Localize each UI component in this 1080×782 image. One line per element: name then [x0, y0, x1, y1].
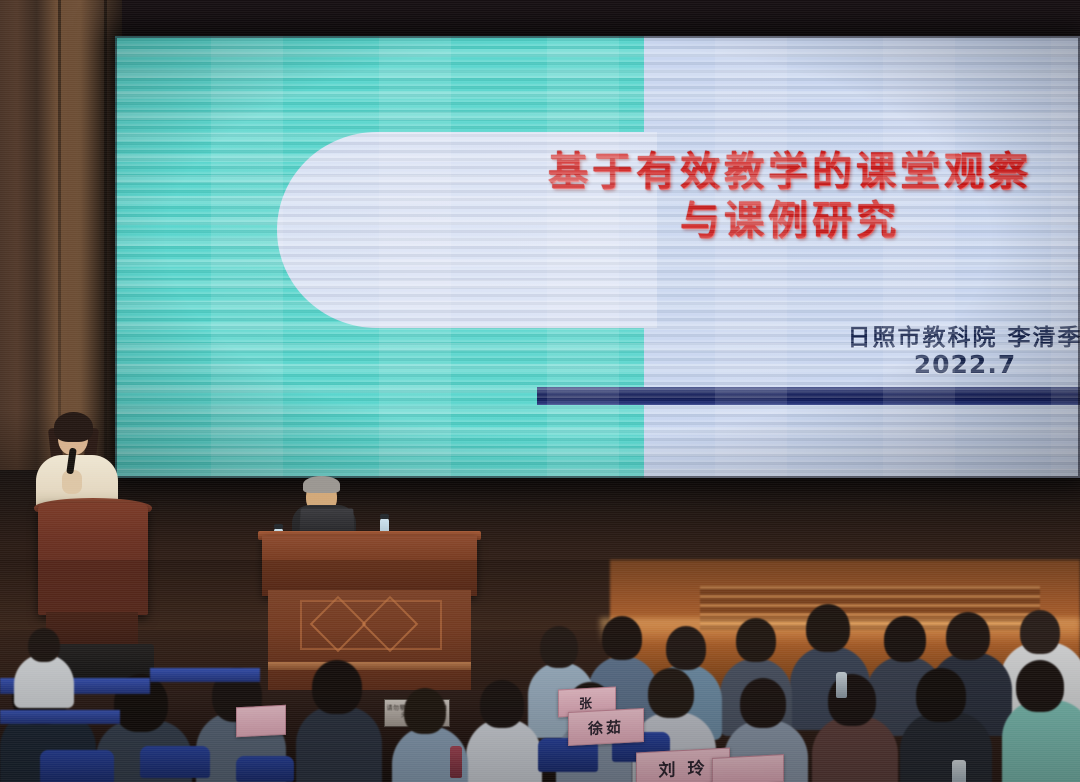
namecard-text: 刘 玲 — [659, 753, 708, 781]
audience-member — [540, 626, 578, 668]
audience-member — [736, 618, 776, 662]
audience-member — [312, 660, 362, 714]
audience-member — [404, 688, 446, 734]
chair — [140, 746, 210, 778]
audience-member — [666, 626, 706, 670]
namecard: 徐茹 — [568, 708, 644, 746]
slide-lavender-block — [644, 36, 1080, 478]
bottle-cap — [380, 514, 389, 519]
bottle-cap — [274, 524, 283, 529]
slide-title: 基于有效教学的课堂观察 与课例研究 — [445, 148, 1080, 246]
audience-member — [1020, 610, 1060, 654]
slide-author: 日照市教科院 李清季 — [755, 318, 1080, 352]
audience-member — [806, 604, 850, 652]
audience-member — [296, 706, 382, 782]
tumbler — [450, 746, 462, 778]
screenshot-root: 基于有效教学的课堂观察 与课例研究 日照市教科院 李清季 2022.7 请勿攀爬… — [0, 0, 1080, 782]
host-hair — [303, 476, 340, 493]
chair — [236, 756, 294, 782]
slide-navy-bar — [537, 387, 1080, 405]
audience-member — [740, 678, 786, 728]
namecard-text: 张 — [579, 692, 595, 712]
namecard — [236, 705, 286, 738]
audience-member — [480, 680, 524, 728]
chair — [40, 750, 114, 782]
audience-member — [28, 628, 60, 662]
slide-date: 2022.7 — [755, 350, 1080, 379]
audience-member — [884, 616, 926, 662]
desk — [0, 710, 120, 724]
audience-member — [602, 616, 642, 660]
namecard-text: 徐茹 — [588, 716, 624, 739]
audience-member — [900, 712, 992, 782]
audience-member — [1016, 660, 1064, 712]
audience-member — [946, 612, 990, 660]
audience-member — [1002, 700, 1080, 782]
water-bottle — [836, 672, 847, 698]
water-bottle — [952, 760, 966, 782]
audience-area: 张 徐茹 刘 玲 — [0, 560, 1080, 782]
projection-screen: 基于有效教学的课堂观察 与课例研究 日照市教科院 李清季 2022.7 — [115, 36, 1080, 478]
audience-member — [916, 668, 966, 722]
audience-member — [14, 654, 74, 708]
presenter-hair — [54, 412, 93, 442]
desk — [150, 668, 260, 682]
namecard — [712, 754, 784, 782]
audience-member — [648, 668, 694, 718]
